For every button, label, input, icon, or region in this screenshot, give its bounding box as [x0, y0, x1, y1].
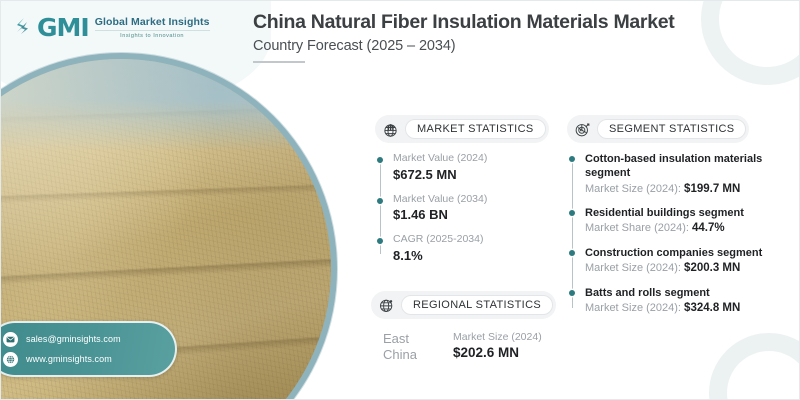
pie-chart-target-icon — [571, 118, 593, 140]
list-item: Market Value (2034) $1.46 BN — [393, 193, 551, 223]
list-item: Market Value (2024) $672.5 MN — [393, 152, 551, 182]
globe-icon — [3, 352, 18, 367]
segment-metric-value: $200.3 MN — [684, 262, 740, 274]
market-statistics-panel: MARKET STATISTICS Market Value (2024) $6… — [375, 115, 551, 263]
market-statistics-heading: MARKET STATISTICS — [405, 119, 546, 139]
globe-bar-chart-icon — [379, 118, 401, 140]
segment-metric-label: Market Size (2024): — [585, 183, 681, 195]
list-item: Cotton-based insulation materials segmen… — [585, 152, 799, 197]
segment-metric-value: 44.7% — [692, 222, 725, 234]
segment-metric-value: $324.8 MN — [684, 302, 740, 314]
segment-name: Batts and rolls segment — [585, 286, 799, 300]
region-metric: Market Size (2024) $202.6 MN — [453, 331, 542, 360]
segment-metric-label: Market Share (2024): — [585, 222, 689, 234]
region-name: East China — [383, 331, 435, 362]
envelope-icon — [3, 332, 18, 347]
segment-metric: Market Size (2024): $324.8 MN — [585, 301, 799, 317]
region-metric-value: $202.6 MN — [453, 345, 542, 360]
stat-value: $1.46 BN — [393, 207, 551, 222]
segment-name: Residential buildings segment — [585, 206, 799, 220]
stat-label: Market Value (2024) — [393, 152, 551, 166]
page-title: China Natural Fiber Insulation Materials… — [253, 11, 723, 34]
segment-metric-value: $199.7 MN — [684, 183, 740, 195]
segment-statistics-header: SEGMENT STATISTICS — [567, 115, 749, 143]
segment-metric: Market Share (2024): 44.7% — [585, 221, 799, 237]
logo-tagline: Insights to Innovation — [95, 30, 210, 39]
regional-statistics-heading: REGIONAL STATISTICS — [401, 295, 553, 315]
regional-statistics-header: REGIONAL STATISTICS — [371, 291, 556, 319]
contact-website-row[interactable]: www.gminsights.com — [3, 352, 175, 367]
segment-statistics-panel: SEGMENT STATISTICS Cotton-based insulati… — [567, 115, 799, 317]
page-subtitle: Country Forecast (2025 – 2034) — [253, 38, 723, 54]
list-item: Construction companies segment Market Si… — [585, 246, 799, 277]
gmi-logo-icon — [15, 17, 31, 39]
photo-top-shade — [0, 59, 331, 151]
market-statistics-header: MARKET STATISTICS — [375, 115, 549, 143]
contact-panel: sales@gminsights.com www.gminsights.com — [0, 321, 177, 377]
segment-metric: Market Size (2024): $199.7 MN — [585, 182, 799, 198]
infographic-card: sales@gminsights.com www.gminsights.com … — [0, 0, 800, 400]
segment-statistics-list: Cotton-based insulation materials segmen… — [567, 152, 799, 317]
decorative-ring-bottom-right — [709, 333, 800, 400]
logo-company-name: Global Market Insights — [95, 16, 210, 28]
market-statistics-list: Market Value (2024) $672.5 MN Market Val… — [375, 152, 551, 263]
segment-name: Cotton-based insulation materials segmen… — [585, 152, 799, 181]
stat-value: 8.1% — [393, 248, 551, 263]
globe-grid-icon — [375, 294, 397, 316]
contact-email-text: sales@gminsights.com — [26, 334, 121, 344]
stat-value: $672.5 MN — [393, 167, 551, 182]
segment-name: Construction companies segment — [585, 246, 799, 260]
list-item: CAGR (2025-2034) 8.1% — [393, 233, 551, 263]
stat-label: CAGR (2025-2034) — [393, 233, 551, 247]
segment-metric-label: Market Size (2024): — [585, 302, 681, 314]
regional-statistics-body: East China Market Size (2024) $202.6 MN — [371, 331, 561, 362]
list-item: Residential buildings segment Market Sha… — [585, 206, 799, 237]
contact-email-row[interactable]: sales@gminsights.com — [3, 332, 175, 347]
list-item: Batts and rolls segment Market Size (202… — [585, 286, 799, 317]
region-metric-label: Market Size (2024) — [453, 331, 542, 343]
title-block: China Natural Fiber Insulation Materials… — [253, 11, 723, 63]
segment-metric: Market Size (2024): $200.3 MN — [585, 261, 799, 277]
brand-logo[interactable]: GMI Global Market Insights Insights to I… — [15, 15, 210, 40]
regional-statistics-panel: REGIONAL STATISTICS East China Market Si… — [371, 291, 561, 362]
contact-website-text: www.gminsights.com — [26, 354, 112, 364]
title-underline — [253, 61, 305, 63]
logo-abbreviation: GMI — [37, 15, 89, 40]
segment-statistics-heading: SEGMENT STATISTICS — [597, 119, 746, 139]
segment-metric-label: Market Size (2024): — [585, 262, 681, 274]
stat-label: Market Value (2034) — [393, 193, 551, 207]
